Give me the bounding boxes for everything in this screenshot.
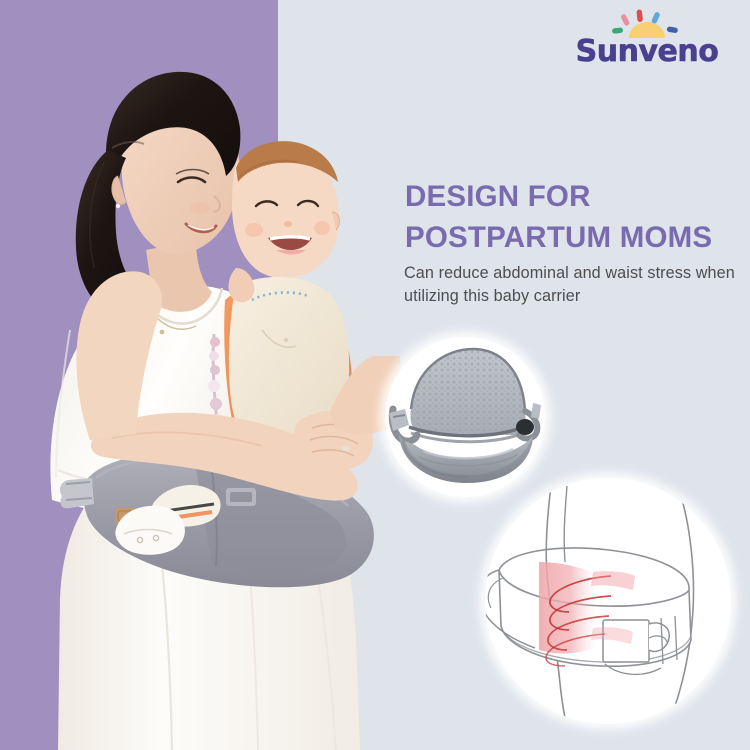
subtitle-line-1: Can reduce abdominal and waist xyxy=(404,264,643,282)
page-title: DESIGN FOR POSTPARTUM MOMS xyxy=(405,176,740,258)
promo-banner: Sunveno DESIGN FOR POSTPARTUM MOMS Can r… xyxy=(0,0,750,750)
waist-belt-line-drawing xyxy=(485,478,731,724)
mother-baby-illustration xyxy=(0,0,420,750)
headline-line-2: POSTPARTUM MOMS xyxy=(405,217,740,258)
lifestyle-photo xyxy=(0,0,420,750)
brand-logo[interactable]: Sunveno xyxy=(558,8,736,74)
subtitle: Can reduce abdominal and waist stress wh… xyxy=(404,262,744,308)
hip-seat-carrier-closeup xyxy=(385,337,545,497)
headline-line-1: DESIGN FOR xyxy=(405,180,591,213)
brand-name: Sunveno xyxy=(576,37,719,67)
carrier-closeup-illustration xyxy=(385,337,545,497)
waist-belt-pressure-illustration xyxy=(485,478,731,724)
